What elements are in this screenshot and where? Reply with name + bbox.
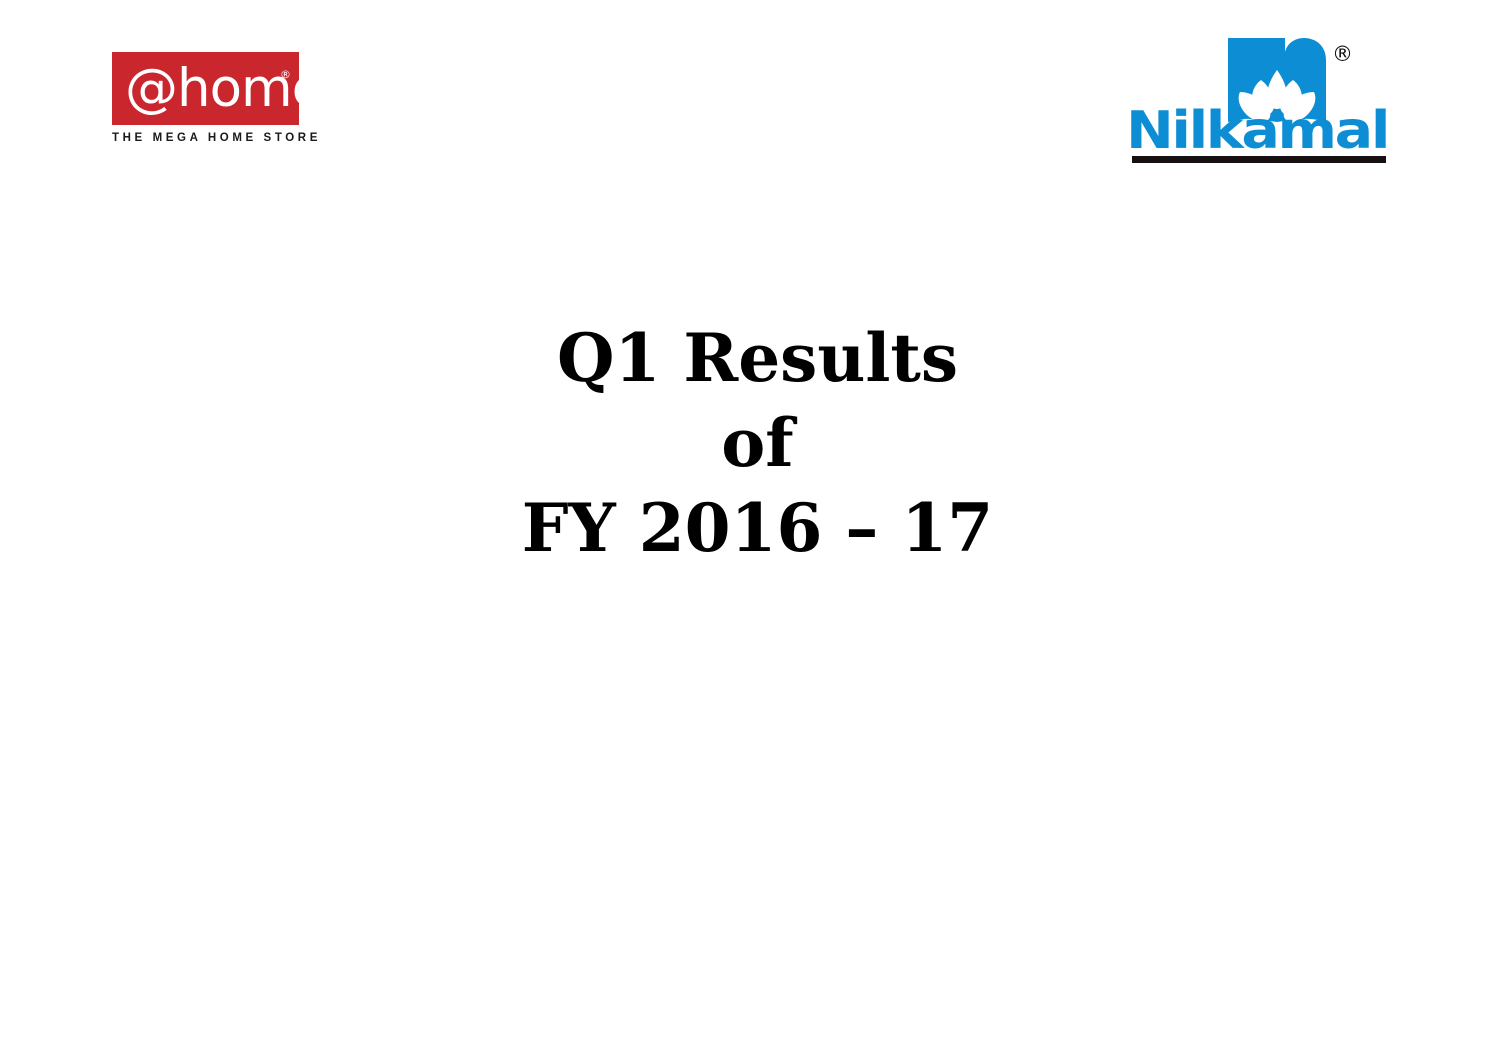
- title-line-2: of: [9, 401, 1497, 486]
- title-line-3: FY 2016 – 17: [9, 486, 1497, 571]
- svg-text:Nilkamal: Nilkamal: [1126, 102, 1388, 158]
- at-home-tagline: THE MEGA HOME STORE: [112, 132, 304, 144]
- registered-trademark-icon: ®: [280, 69, 291, 80]
- at-home-wordmark: @home: [125, 58, 323, 120]
- nilkamal-wordmark: Nilkamal: [1126, 102, 1390, 158]
- title-line-1: Q1 Results: [9, 316, 1497, 401]
- presentation-slide: @home ® THE MEGA HOME STORE ® Nilkamal: [0, 0, 1497, 1058]
- registered-trademark-icon: ®: [1332, 44, 1353, 65]
- nilkamal-underline-bar: [1132, 156, 1386, 163]
- at-home-logo-box: @home ®: [112, 52, 299, 125]
- nilkamal-logo: ® Nilkamal: [1118, 36, 1390, 166]
- at-home-logo: @home ® THE MEGA HOME STORE: [112, 52, 299, 125]
- page-title: Q1 Results of FY 2016 – 17: [0, 316, 1497, 571]
